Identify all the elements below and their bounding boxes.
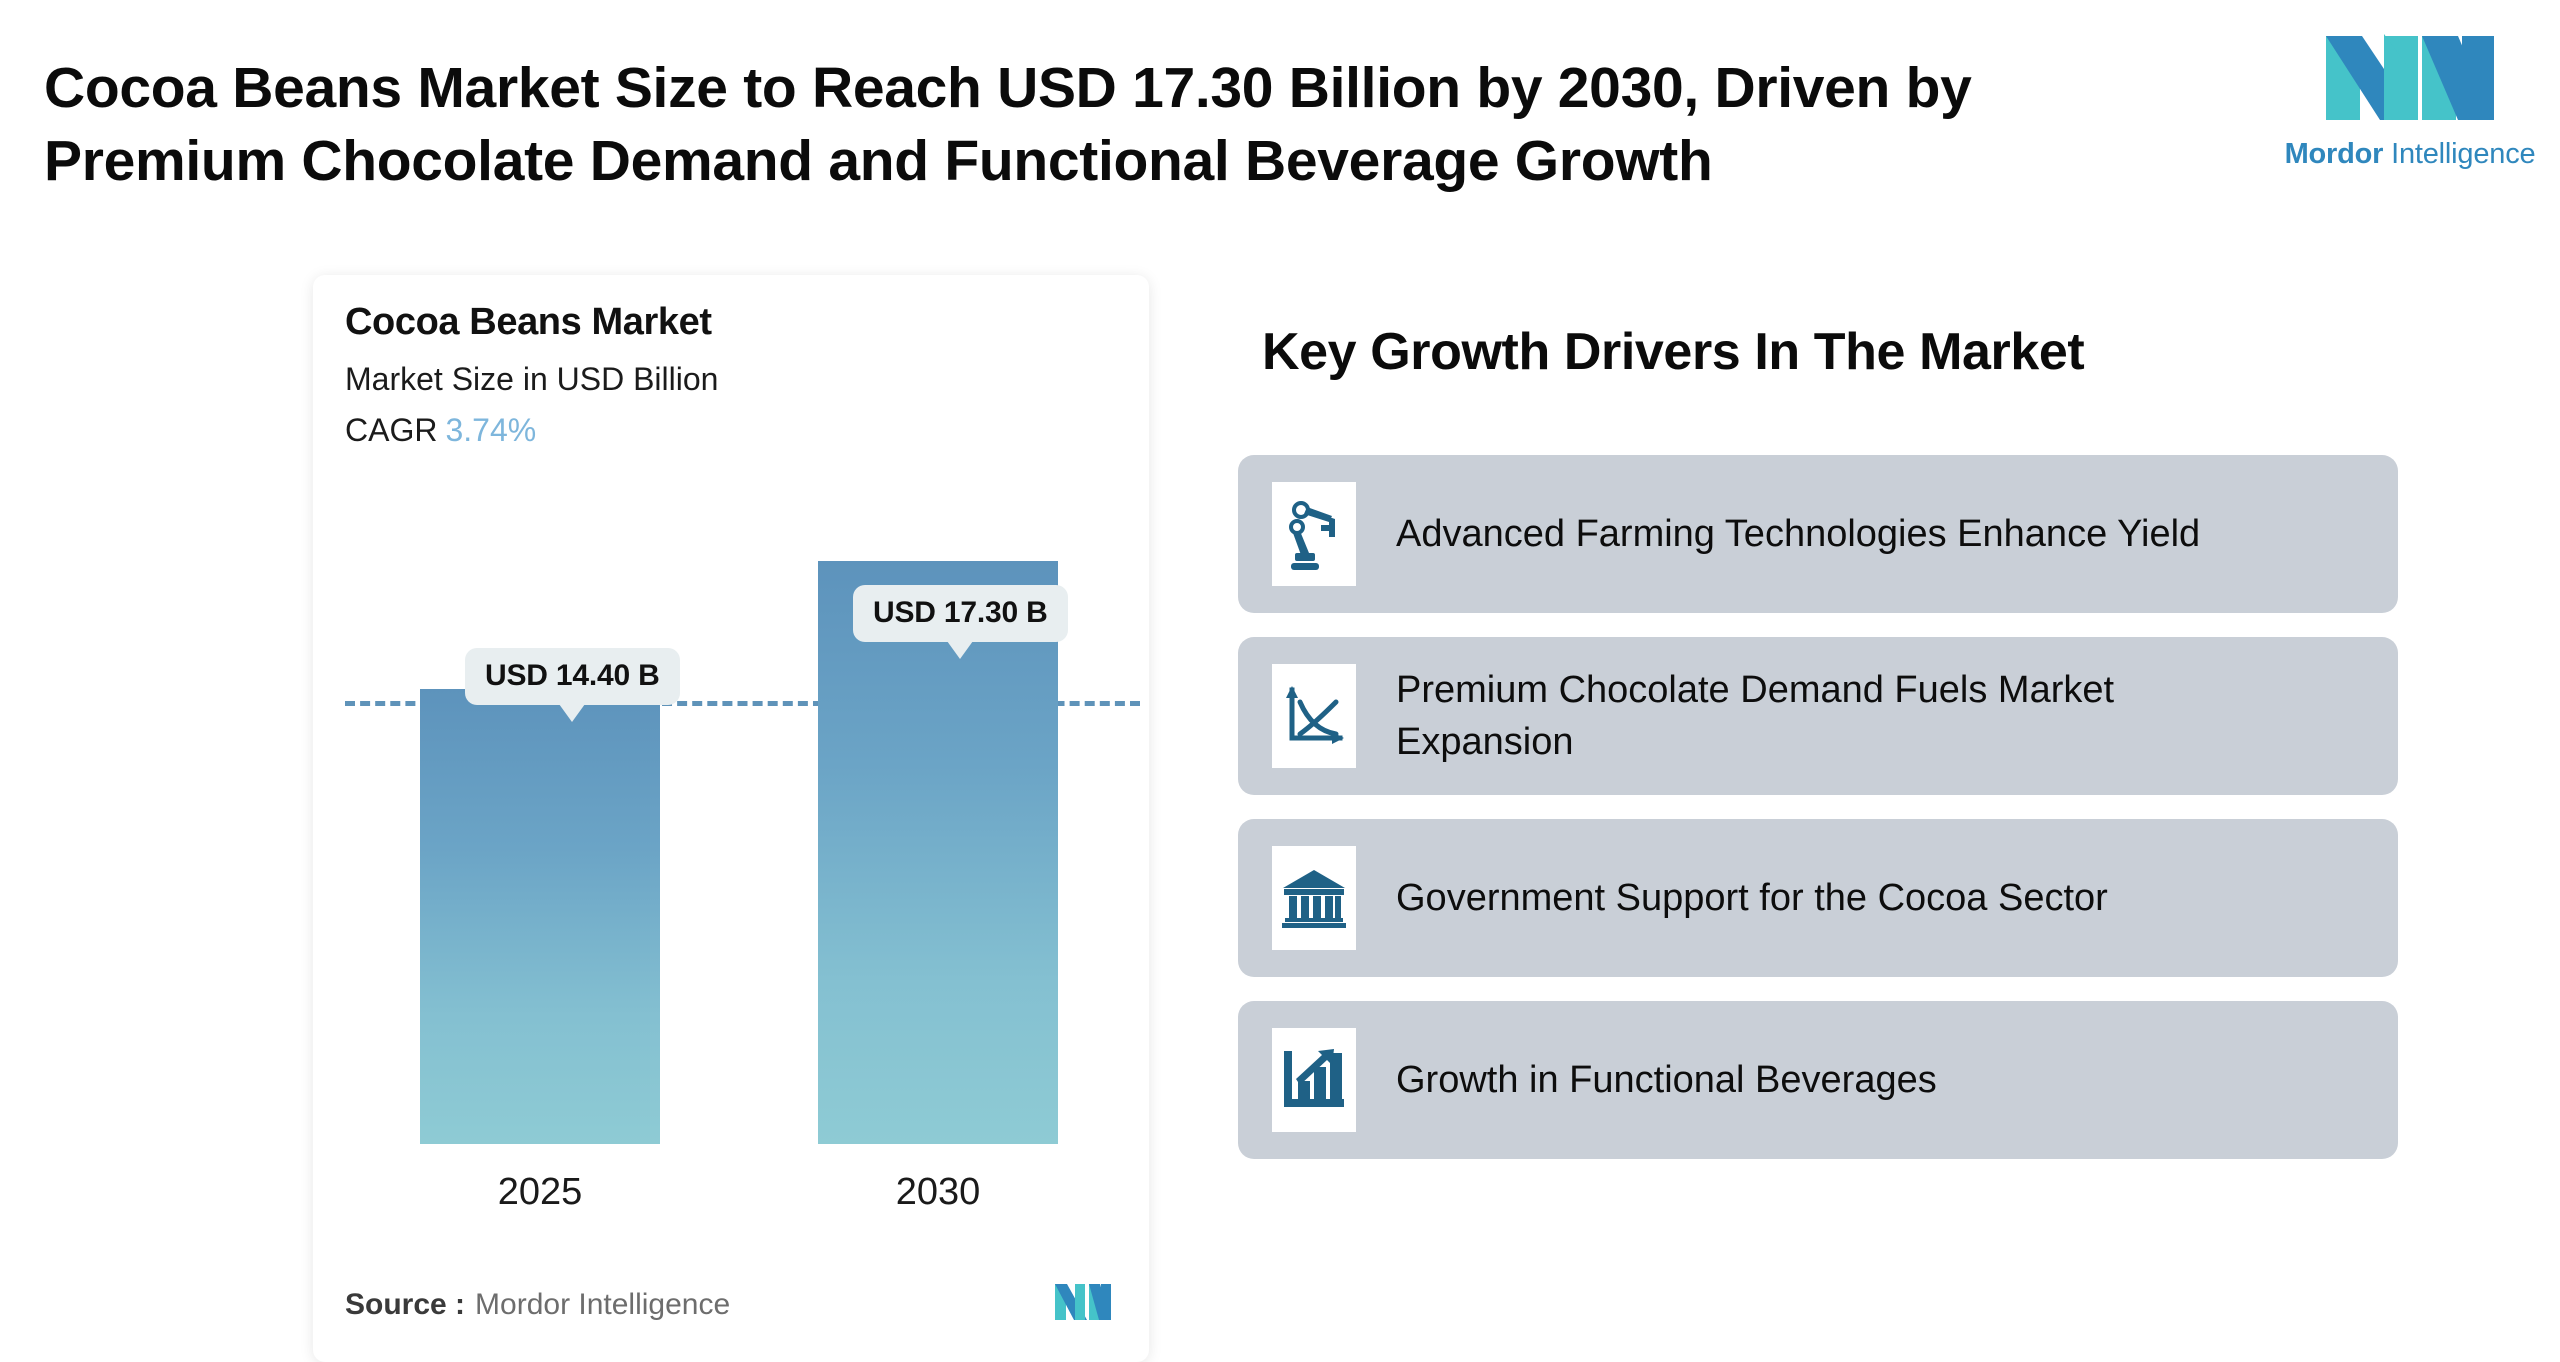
driver-label-4: Growth in Functional Beverages xyxy=(1396,1054,1937,1106)
brand-name-light: Intelligence xyxy=(2383,138,2535,170)
driver-card-1[interactable]: Advanced Farming Technologies Enhance Yi… xyxy=(1238,455,2398,613)
bar-value-callout-2030: USD 17.30 B xyxy=(853,585,1068,642)
brand-wordmark: Mordor Intelligence xyxy=(2285,138,2536,171)
chart-source-name: Mordor Intelligence xyxy=(475,1288,730,1321)
driver-label-2: Premium Chocolate Demand Fuels Market Ex… xyxy=(1396,664,2276,769)
brand-logo: Mordor Intelligence xyxy=(2260,0,2560,190)
driver-card-2[interactable]: Premium Chocolate Demand Fuels Market Ex… xyxy=(1238,637,2398,795)
x-axis-label-2030: 2030 xyxy=(818,1171,1058,1214)
mordor-mini-logo-icon xyxy=(1053,1280,1113,1324)
mordor-intelligence-logo-icon xyxy=(2322,20,2498,132)
page-title-line-1: Cocoa Beans Market Size to Reach USD 17.… xyxy=(44,52,1974,125)
chart-card: Cocoa Beans Market Market Size in USD Bi… xyxy=(313,275,1149,1362)
chart-source-label: Source : xyxy=(345,1288,465,1321)
x-axis-label-2025: 2025 xyxy=(420,1171,660,1214)
growth-bar-chart-icon xyxy=(1272,1028,1356,1132)
driver-card-4[interactable]: Growth in Functional Beverages xyxy=(1238,1001,2398,1159)
driver-label-3: Government Support for the Cocoa Sector xyxy=(1396,872,2108,924)
page-title-line-2: Premium Chocolate Demand and Functional … xyxy=(44,125,1974,198)
government-building-icon xyxy=(1272,846,1356,950)
bar-2030[interactable] xyxy=(818,561,1058,1144)
drivers-list: Advanced Farming Technologies Enhance Yi… xyxy=(1238,455,2398,1183)
chart-source: Source :Mordor Intelligence xyxy=(345,1288,730,1322)
drivers-heading: Key Growth Drivers In The Market xyxy=(1262,322,2084,382)
brand-name-bold: Mordor xyxy=(2285,138,2384,170)
bar-2025[interactable] xyxy=(420,689,660,1144)
page-title: Cocoa Beans Market Size to Reach USD 17.… xyxy=(44,52,1974,198)
bar-value-callout-2025: USD 14.40 B xyxy=(465,648,680,705)
robotic-arm-icon xyxy=(1272,482,1356,586)
driver-label-1: Advanced Farming Technologies Enhance Yi… xyxy=(1396,508,2200,560)
bar-chart-plot-area: USD 14.40 B USD 17.30 B 2025 2030 xyxy=(313,275,1149,1362)
supply-demand-chart-icon xyxy=(1272,664,1356,768)
driver-card-3[interactable]: Government Support for the Cocoa Sector xyxy=(1238,819,2398,977)
